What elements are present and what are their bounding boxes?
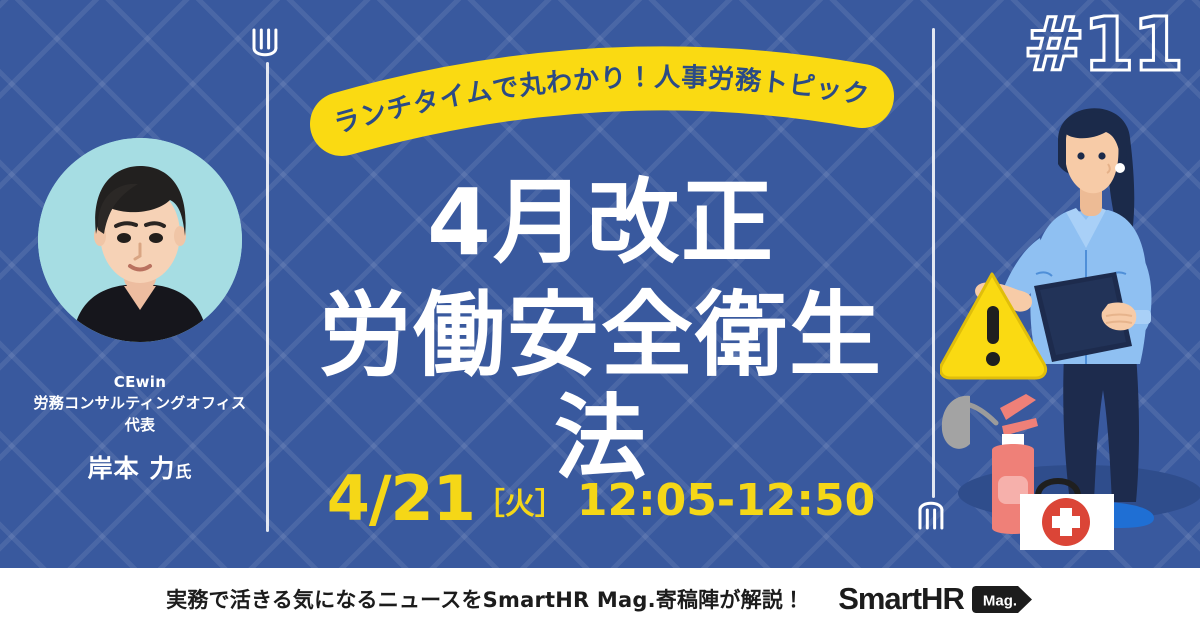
schedule-day-of-week: ［火］ — [475, 487, 565, 522]
logo-mag-text: Mag. — [983, 592, 1017, 609]
smarthr-mag-logo: SmartHR Mag. — [838, 581, 1034, 617]
ribbon-banner: ランチタイムで丸わかり！人事労務トピック — [296, 46, 908, 142]
speaker-org-line-2: 労務コンサルティングオフィス — [10, 393, 270, 414]
woman-presenter-illustration — [940, 78, 1200, 568]
episode-number-badge: #11 — [1023, 8, 1182, 82]
title-line-1: 4月改正 — [276, 176, 926, 270]
avatar — [38, 138, 242, 342]
speaker-info: CEwin 労務コンサルティングオフィス 代表 岸本 力氏 — [10, 372, 270, 485]
logo-wordmark: SmartHR — [838, 581, 964, 617]
speaker-name-suffix: 氏 — [175, 462, 192, 481]
footer-tagline: 実務で活きる気になるニュースをSmartHR Mag.寄稿陣が解説！ — [166, 584, 804, 614]
footer-bar: 実務で活きる気になるニュースをSmartHR Mag.寄稿陣が解説！ Smart… — [0, 568, 1200, 630]
divider-line-right — [932, 28, 935, 498]
schedule-time: 12:05-12:50 — [577, 475, 875, 526]
page-title: 4月改正 労働安全衛生法 — [276, 176, 926, 490]
speaker-org-line-1: CEwin — [10, 372, 270, 393]
logo-mag-tag: Mag. — [972, 586, 1034, 613]
schedule: 4/21［火］12:05-12:50 — [276, 462, 926, 535]
speaker-name: 岸本 力氏 — [10, 449, 270, 485]
schedule-date: 4/21 — [327, 462, 475, 535]
speaker-org-line-3: 代表 — [10, 415, 270, 436]
speaker-name-text: 岸本 力 — [88, 454, 176, 483]
banner-canvas: #11 ランチタイムで丸わかり！人事労務トピック ランチタイムで丸わかり！人事労… — [0, 0, 1200, 630]
title-line-2: 労働安全衛生法 — [276, 284, 926, 490]
